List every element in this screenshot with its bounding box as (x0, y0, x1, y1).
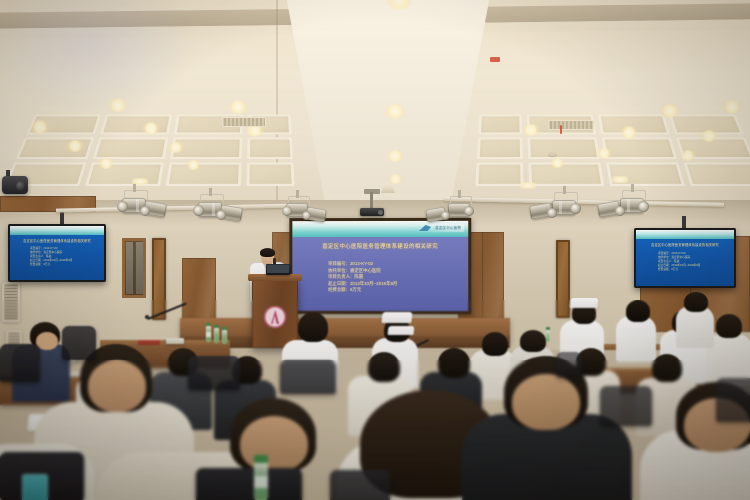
audience-head (512, 374, 580, 430)
logo-text: 嘉定区中心医院 (435, 225, 461, 231)
fire-sprinkler (490, 57, 500, 62)
slide-line-funding: 经费总额：6万元 (328, 287, 448, 294)
door-right[interactable] (556, 240, 570, 318)
chair-back (280, 360, 336, 394)
conference-hall-photo: 嘉定区中心医院医务管理体系建设的相关研究 项目编号：2013-KY-03 依托单… (0, 0, 750, 500)
bottle-cap (222, 327, 227, 330)
slide-line-project-number: 项目编号：2013-KY-03 (328, 261, 448, 268)
ceiling-downlight (386, 150, 404, 162)
tv-left-screen: 嘉定区中心医院医务管理体系建设的相关研究 项目编号：2013-KY-03 依托单… (10, 226, 104, 280)
ceiling-downlight (108, 98, 128, 112)
table-nameplate (166, 338, 184, 344)
projector-lens-icon (378, 210, 383, 215)
ceiling-downlight (620, 126, 638, 139)
bottle-label (254, 476, 268, 488)
bottle-cap (214, 325, 219, 328)
ceiling-downlight (388, 174, 403, 184)
ceiling-downlight (186, 160, 201, 170)
water-bottle (214, 328, 219, 343)
audience-hair (520, 330, 546, 352)
tv-slide-title: 嘉定区中心医院医务管理体系建设的相关研究 (636, 242, 734, 247)
slide-title: 嘉定区中心医院医务管理体系建设的相关研究 (292, 242, 468, 250)
ceiling-downlight (168, 142, 184, 153)
nurse-cap (569, 298, 598, 308)
bottle-cap (546, 327, 550, 330)
ceiling-downlight (142, 122, 160, 135)
door-left[interactable] (152, 238, 166, 320)
bottle-label (206, 332, 211, 337)
nurse-cap (388, 326, 415, 335)
audience-hair (652, 354, 682, 382)
ceiling-downlight (66, 140, 84, 152)
tv-slide-body: 项目编号：2013-KY-03 依托单位：嘉定区中心医院 项目负责人：陈震 起止… (30, 247, 100, 267)
wall-window-glass (126, 242, 133, 294)
slide-body: 项目编号：2013-KY-03 依托单位：嘉定区中心医院 项目负责人：陈震 起止… (328, 261, 448, 294)
ceiling-downlight (680, 150, 696, 161)
coffered-ceiling-right (470, 112, 750, 210)
projector-arm (370, 192, 373, 209)
tv-slide-line: 经费总额：6万元 (30, 263, 100, 267)
ceiling-downlight (30, 120, 50, 134)
audience-hair (716, 314, 742, 338)
ceiling-downlight (550, 158, 565, 168)
ceiling-downlight (522, 124, 540, 136)
audience-hair (368, 352, 400, 382)
tv-slide-title: 嘉定区中心医院医务管理体系建设的相关研究 (10, 238, 104, 243)
audience-head (240, 416, 308, 472)
audience-hair (482, 332, 508, 356)
tv-left: 嘉定区中心医院医务管理体系建设的相关研究 项目编号：2013-KY-03 依托单… (8, 224, 106, 282)
tv-slide-body: 项目编号：2013-KY-03 依托单位：嘉定区中心医院 项目负责人：陈震 起止… (658, 252, 730, 272)
nurse-cap (381, 312, 412, 323)
wall-speaker-left (2, 282, 20, 322)
podium-emblem (264, 306, 286, 328)
ceiling-downlight (384, 104, 406, 119)
ceiling-air-vent (548, 120, 594, 130)
bottle-cap (206, 323, 211, 326)
ceiling-downlight (98, 158, 114, 169)
audience-hair (298, 312, 328, 342)
audience-torso-doctor (676, 306, 714, 348)
chair-back (600, 386, 652, 426)
wall-window-glass (136, 242, 143, 294)
audience-torso-doctor (616, 316, 656, 362)
tv-right: 嘉定区中心医院医务管理体系建设的相关研究 项目编号：2013-KY-03 依托单… (634, 228, 736, 288)
speaker-grill (5, 285, 17, 319)
chair-back (188, 356, 240, 390)
tv-slide-header (636, 230, 734, 239)
chair-back (556, 352, 582, 378)
water-bottle (222, 330, 227, 344)
ceiling-panel-light (520, 182, 536, 189)
ceiling-downlight (700, 130, 718, 142)
red-folder[interactable] (138, 340, 160, 345)
audience-head (88, 360, 146, 412)
microphone-head-icon (145, 315, 149, 319)
tv-mount-right (682, 216, 686, 228)
camera-lens-icon (16, 181, 26, 191)
presenter-hair (260, 248, 275, 257)
audience-hair (626, 300, 650, 322)
chair-back (330, 470, 390, 500)
chair-back (62, 326, 96, 360)
ceiling-downlight (722, 100, 742, 114)
ceiling-downlight (228, 100, 248, 114)
logo-mark-icon (419, 225, 431, 231)
ceiling-downlight (660, 104, 680, 118)
podium-top-surface (248, 274, 302, 281)
slide-header-band: 嘉定区中心医院 (292, 221, 468, 237)
wood-wainscot-stage-left (182, 258, 216, 320)
bottle-cap (254, 455, 268, 463)
water-bottle (546, 330, 550, 342)
projection-screen-frame: 嘉定区中心医院 嘉定区中心医院医务管理体系建设的相关研究 项目编号：2013-K… (289, 218, 471, 314)
travel-mug (22, 474, 48, 500)
chair-back (0, 344, 40, 382)
smoke-detector (548, 152, 557, 156)
hospital-logo: 嘉定区中心医院 (416, 224, 464, 232)
laptop-screen (267, 265, 289, 273)
fire-sprinkler (560, 125, 562, 134)
tv-right-screen: 嘉定区中心医院医务管理体系建设的相关研究 项目编号：2013-KY-03 依托单… (636, 230, 734, 286)
projection-screen: 嘉定区中心医院 嘉定区中心医院医务管理体系建设的相关研究 项目编号：2013-K… (292, 221, 468, 311)
audience-hair (684, 292, 708, 312)
audience-hair (438, 348, 470, 378)
ceiling-air-vent (222, 117, 266, 127)
tv-slide-header (10, 226, 104, 235)
ceiling-panel-light (612, 176, 628, 183)
ceiling-downlight (596, 148, 612, 159)
tv-slide-line: 经费总额：6万元 (658, 268, 730, 272)
chair-back (196, 468, 302, 500)
chair-back (716, 378, 750, 422)
